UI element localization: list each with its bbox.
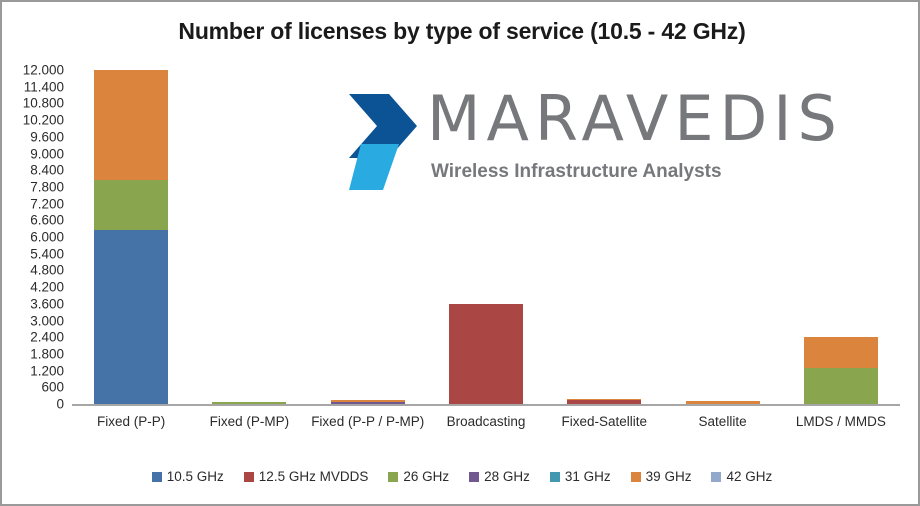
logo-wordmark: MARAVEDIS: [427, 88, 843, 150]
y-axis-tick-label: 6.000: [2, 230, 64, 244]
y-axis: 06001.2001.8002.4003.0003.6004.2004.8005…: [2, 70, 64, 404]
y-axis-tick-label: 1.800: [2, 347, 64, 361]
y-axis-tick-label: 10.200: [2, 113, 64, 127]
bar-column[interactable]: [449, 304, 523, 404]
x-axis-tick-label: Satellite: [663, 413, 781, 431]
legend-item[interactable]: 12.5 GHz MVDDS: [244, 470, 369, 484]
bar-segment[interactable]: [449, 304, 523, 404]
x-axis-tick-label: Fixed (P-MP): [190, 413, 308, 431]
bar-column[interactable]: [94, 70, 168, 404]
legend-label: 10.5 GHz: [167, 470, 224, 484]
legend-item[interactable]: 10.5 GHz: [152, 470, 224, 484]
x-axis-tick-label: Fixed (P-P / P-MP): [309, 413, 427, 431]
legend-label: 28 GHz: [484, 470, 530, 484]
legend-label: 26 GHz: [403, 470, 449, 484]
chart-title: Number of licenses by type of service (1…: [2, 18, 920, 45]
y-axis-tick-label: 6.600: [2, 214, 64, 228]
x-axis-tick-label: Fixed-Satellite: [545, 413, 663, 431]
legend-swatch-icon: [388, 472, 398, 482]
legend-label: 12.5 GHz MVDDS: [259, 470, 369, 484]
legend-item[interactable]: 42 GHz: [711, 470, 772, 484]
legend-label: 42 GHz: [726, 470, 772, 484]
legend-swatch-icon: [244, 472, 254, 482]
y-axis-tick-label: 8.400: [2, 163, 64, 177]
bar-segment[interactable]: [94, 70, 168, 180]
legend-item[interactable]: 39 GHz: [631, 470, 692, 484]
y-axis-tick-label: 11.400: [2, 80, 64, 94]
bar-segment[interactable]: [94, 230, 168, 404]
bar-segment[interactable]: [804, 337, 878, 368]
y-axis-tick-label: 7.200: [2, 197, 64, 211]
x-axis-tick-label: LMDS / MMDS: [782, 413, 900, 431]
y-axis-tick-label: 7.800: [2, 180, 64, 194]
y-axis-tick-label: 4.200: [2, 280, 64, 294]
y-axis-tick-label: 0: [2, 397, 64, 411]
bar-segment[interactable]: [804, 368, 878, 404]
logo-tagline: Wireless Infrastructure Analysts: [431, 162, 722, 181]
legend-item[interactable]: 31 GHz: [550, 470, 611, 484]
legend-swatch-icon: [631, 472, 641, 482]
y-axis-tick-label: 9.600: [2, 130, 64, 144]
legend-swatch-icon: [711, 472, 721, 482]
logo-chevron-icon: [347, 92, 419, 192]
legend-label: 31 GHz: [565, 470, 611, 484]
y-axis-tick-label: 3.600: [2, 297, 64, 311]
bar-column[interactable]: [804, 337, 878, 404]
bar-segment[interactable]: [94, 180, 168, 230]
x-axis-line: [72, 404, 900, 406]
legend-swatch-icon: [469, 472, 479, 482]
legend-item[interactable]: 26 GHz: [388, 470, 449, 484]
y-axis-tick-label: 9.000: [2, 147, 64, 161]
y-axis-tick-label: 5.400: [2, 247, 64, 261]
y-axis-tick-label: 600: [2, 381, 64, 395]
y-axis-tick-label: 10.800: [2, 97, 64, 111]
chart-container: Number of licenses by type of service (1…: [0, 0, 920, 506]
maravedis-logo: MARAVEDIS Wireless Infrastructure Analys…: [347, 90, 837, 195]
legend-swatch-icon: [152, 472, 162, 482]
legend-swatch-icon: [550, 472, 560, 482]
y-axis-tick-label: 3.000: [2, 314, 64, 328]
y-axis-tick-label: 12.000: [2, 63, 64, 77]
x-axis: Fixed (P-P)Fixed (P-MP)Fixed (P-P / P-MP…: [72, 413, 900, 463]
legend-item[interactable]: 28 GHz: [469, 470, 530, 484]
y-axis-tick-label: 4.800: [2, 264, 64, 278]
chart-legend: 10.5 GHz12.5 GHz MVDDS26 GHz28 GHz31 GHz…: [2, 470, 920, 484]
y-axis-tick-label: 2.400: [2, 330, 64, 344]
x-axis-tick-label: Broadcasting: [427, 413, 545, 431]
y-axis-tick-label: 1.200: [2, 364, 64, 378]
legend-label: 39 GHz: [646, 470, 692, 484]
x-axis-tick-label: Fixed (P-P): [72, 413, 190, 431]
